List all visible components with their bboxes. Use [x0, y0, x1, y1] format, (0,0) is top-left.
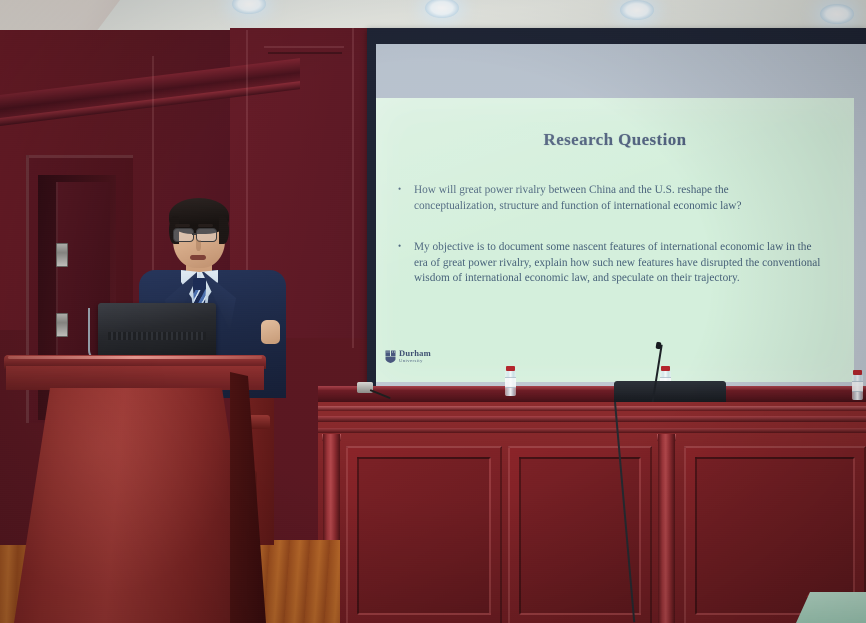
lectern-apron: [6, 366, 264, 390]
bottle-label: [505, 377, 516, 388]
presenter-tie-knot: [193, 278, 206, 290]
durham-logo-name: Durham: [399, 349, 431, 358]
panel-seam: [268, 52, 342, 54]
panel-rail: [318, 406, 866, 411]
panel-rail: [318, 428, 866, 433]
panel-seam: [264, 46, 344, 48]
durham-shield-icon: [385, 350, 396, 363]
ceiling-light-icon: [820, 4, 854, 24]
panel-seam: [352, 28, 354, 348]
podium-monitor[interactable]: [98, 303, 216, 358]
glasses-bridge-icon: [192, 233, 196, 235]
delegate-chair[interactable]: [614, 381, 726, 403]
bottle-body: [505, 371, 516, 396]
presentation-photo-scene: Research Question • How will great power…: [0, 0, 866, 623]
lower-wall-panelling: [318, 402, 866, 623]
monitor-vent: [108, 332, 206, 340]
presenter-nose: [196, 240, 201, 251]
bottle-label: [852, 381, 863, 392]
panel-rail: [318, 416, 866, 422]
bullet-marker-icon: •: [398, 240, 414, 287]
presenter-hand: [261, 320, 280, 344]
slide-bullet-item: • My objective is to document some nasce…: [398, 240, 828, 287]
lectern-top-highlight: [8, 356, 262, 359]
door-hinge-icon: [56, 313, 68, 337]
water-bottle[interactable]: [852, 370, 863, 400]
durham-logo-subtitle: University: [399, 359, 431, 364]
presenter-eyebrow: [198, 224, 213, 227]
glasses-icon: [173, 228, 194, 242]
bullet-marker-icon: •: [398, 183, 414, 214]
door-hinge-icon: [56, 243, 68, 267]
pilaster: [658, 434, 675, 623]
slide-bullet-item: • How will great power rivalry between C…: [398, 183, 798, 214]
wall-panel: [346, 446, 502, 623]
durham-university-logo: Durham University: [385, 349, 431, 363]
slide-bullet-text: How will great power rivalry between Chi…: [414, 183, 798, 214]
ceiling-light-icon: [620, 0, 654, 20]
bottle-body: [852, 375, 863, 400]
presenter-eyebrow: [175, 224, 190, 227]
presenter-hair-side: [219, 216, 229, 244]
lectern-shading: [14, 388, 258, 623]
presenter-mouth: [190, 255, 206, 260]
presenter-table-edge: [318, 386, 866, 390]
wall-panel-inset: [357, 457, 491, 615]
slide-bullet-text: My objective is to document some nascent…: [414, 240, 828, 287]
durham-logo-text: Durham University: [399, 349, 431, 363]
water-bottle[interactable]: [505, 366, 516, 396]
slide-title: Research Question: [376, 130, 854, 150]
wall-panel-inset: [695, 457, 855, 615]
